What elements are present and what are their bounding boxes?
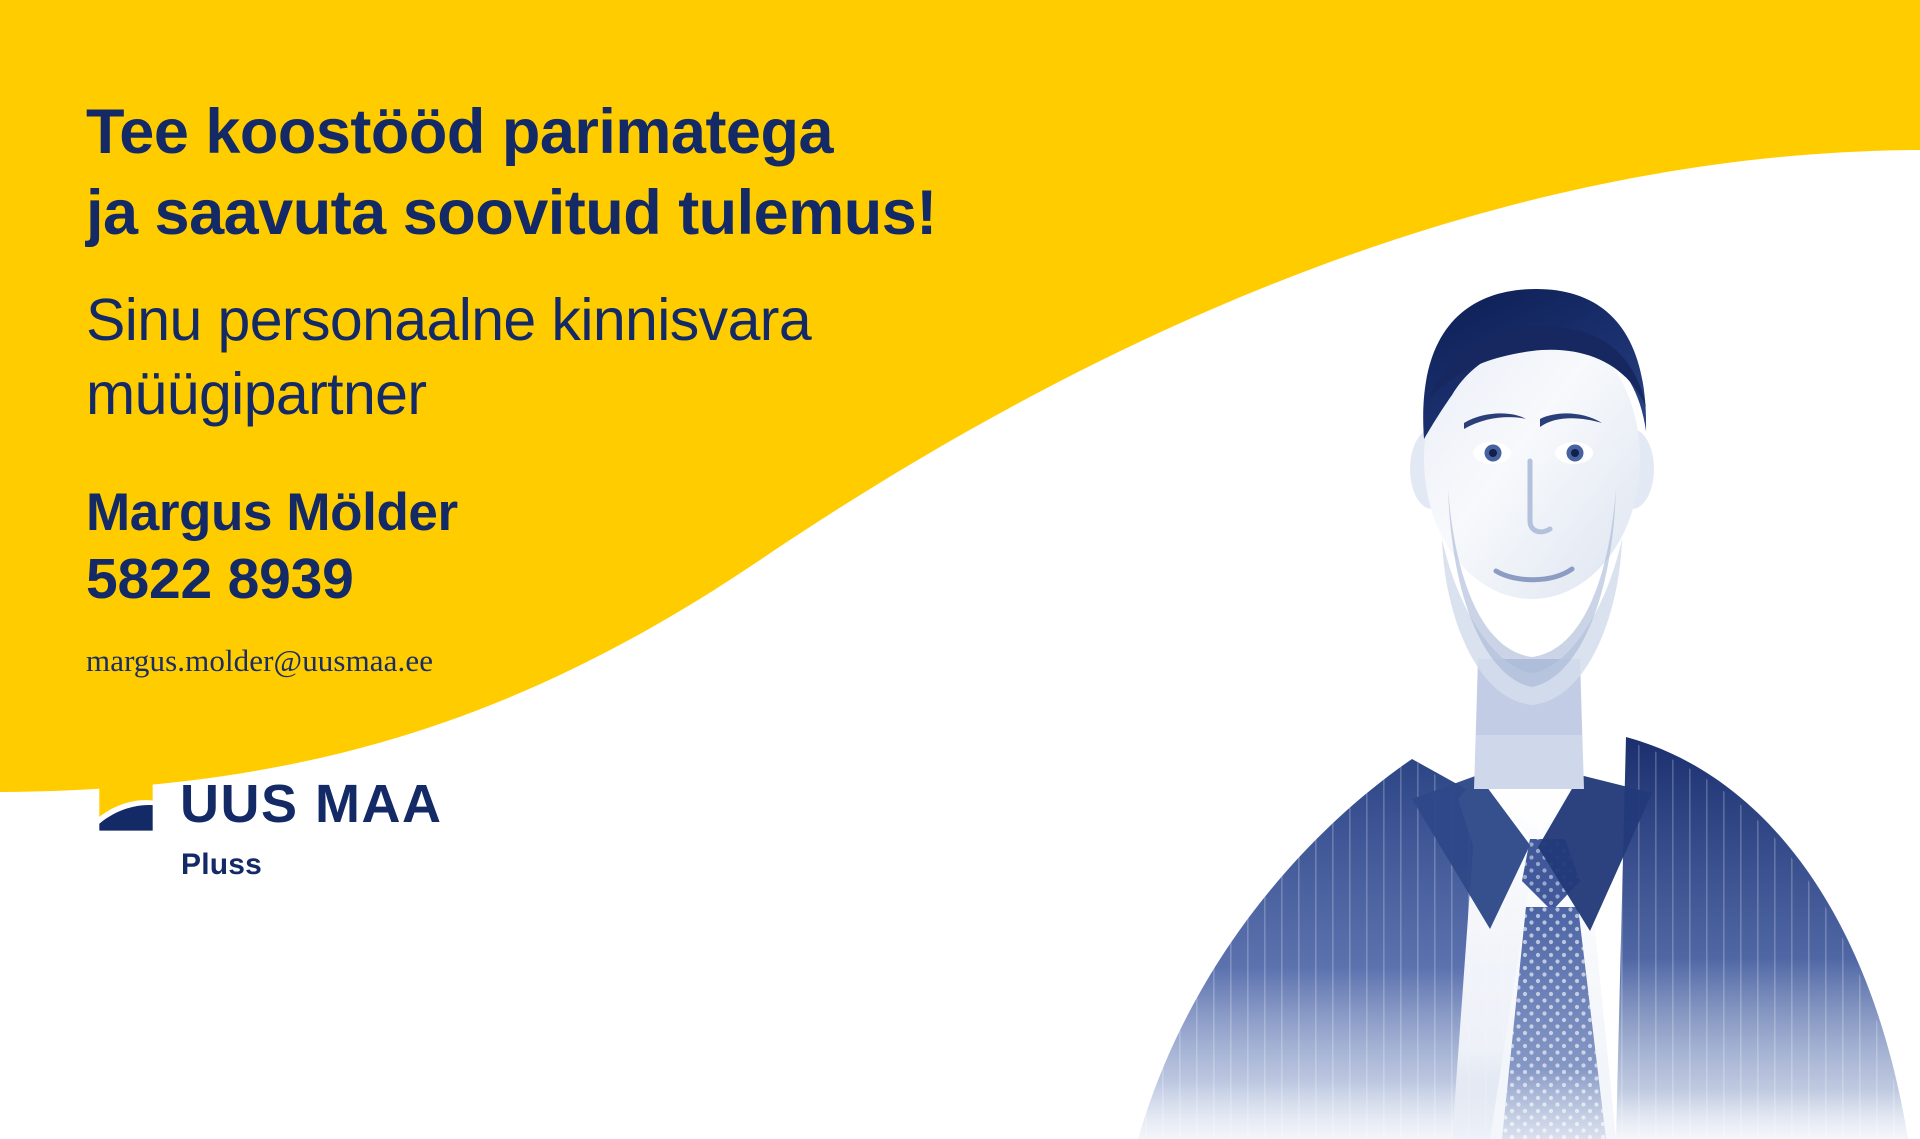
content-column: Tee koostööd parimatega ja saavuta soovi… [86,0,1086,1139]
subheading: Sinu personaalne kinnisvara müügipartner [86,283,811,432]
agent-phone[interactable]: 5822 8939 [86,546,354,613]
agent-name: Margus Mölder [86,482,458,545]
uus-maa-pluss-logo[interactable]: UUS MAA Pluss [86,775,516,900]
agent-email[interactable]: margus.molder@uusmaa.ee [86,643,433,679]
logo-wordmark: UUS MAA [180,777,443,831]
uus-maa-pluss-agent-banner: Tee koostööd parimatega ja saavuta soovi… [0,0,1920,1139]
logo-primary-row: UUS MAA [97,775,443,833]
logo-subbrand: Pluss [181,848,262,882]
headline: Tee koostööd parimatega ja saavuta soovi… [86,92,937,253]
uus-maa-mark-icon [97,775,155,833]
